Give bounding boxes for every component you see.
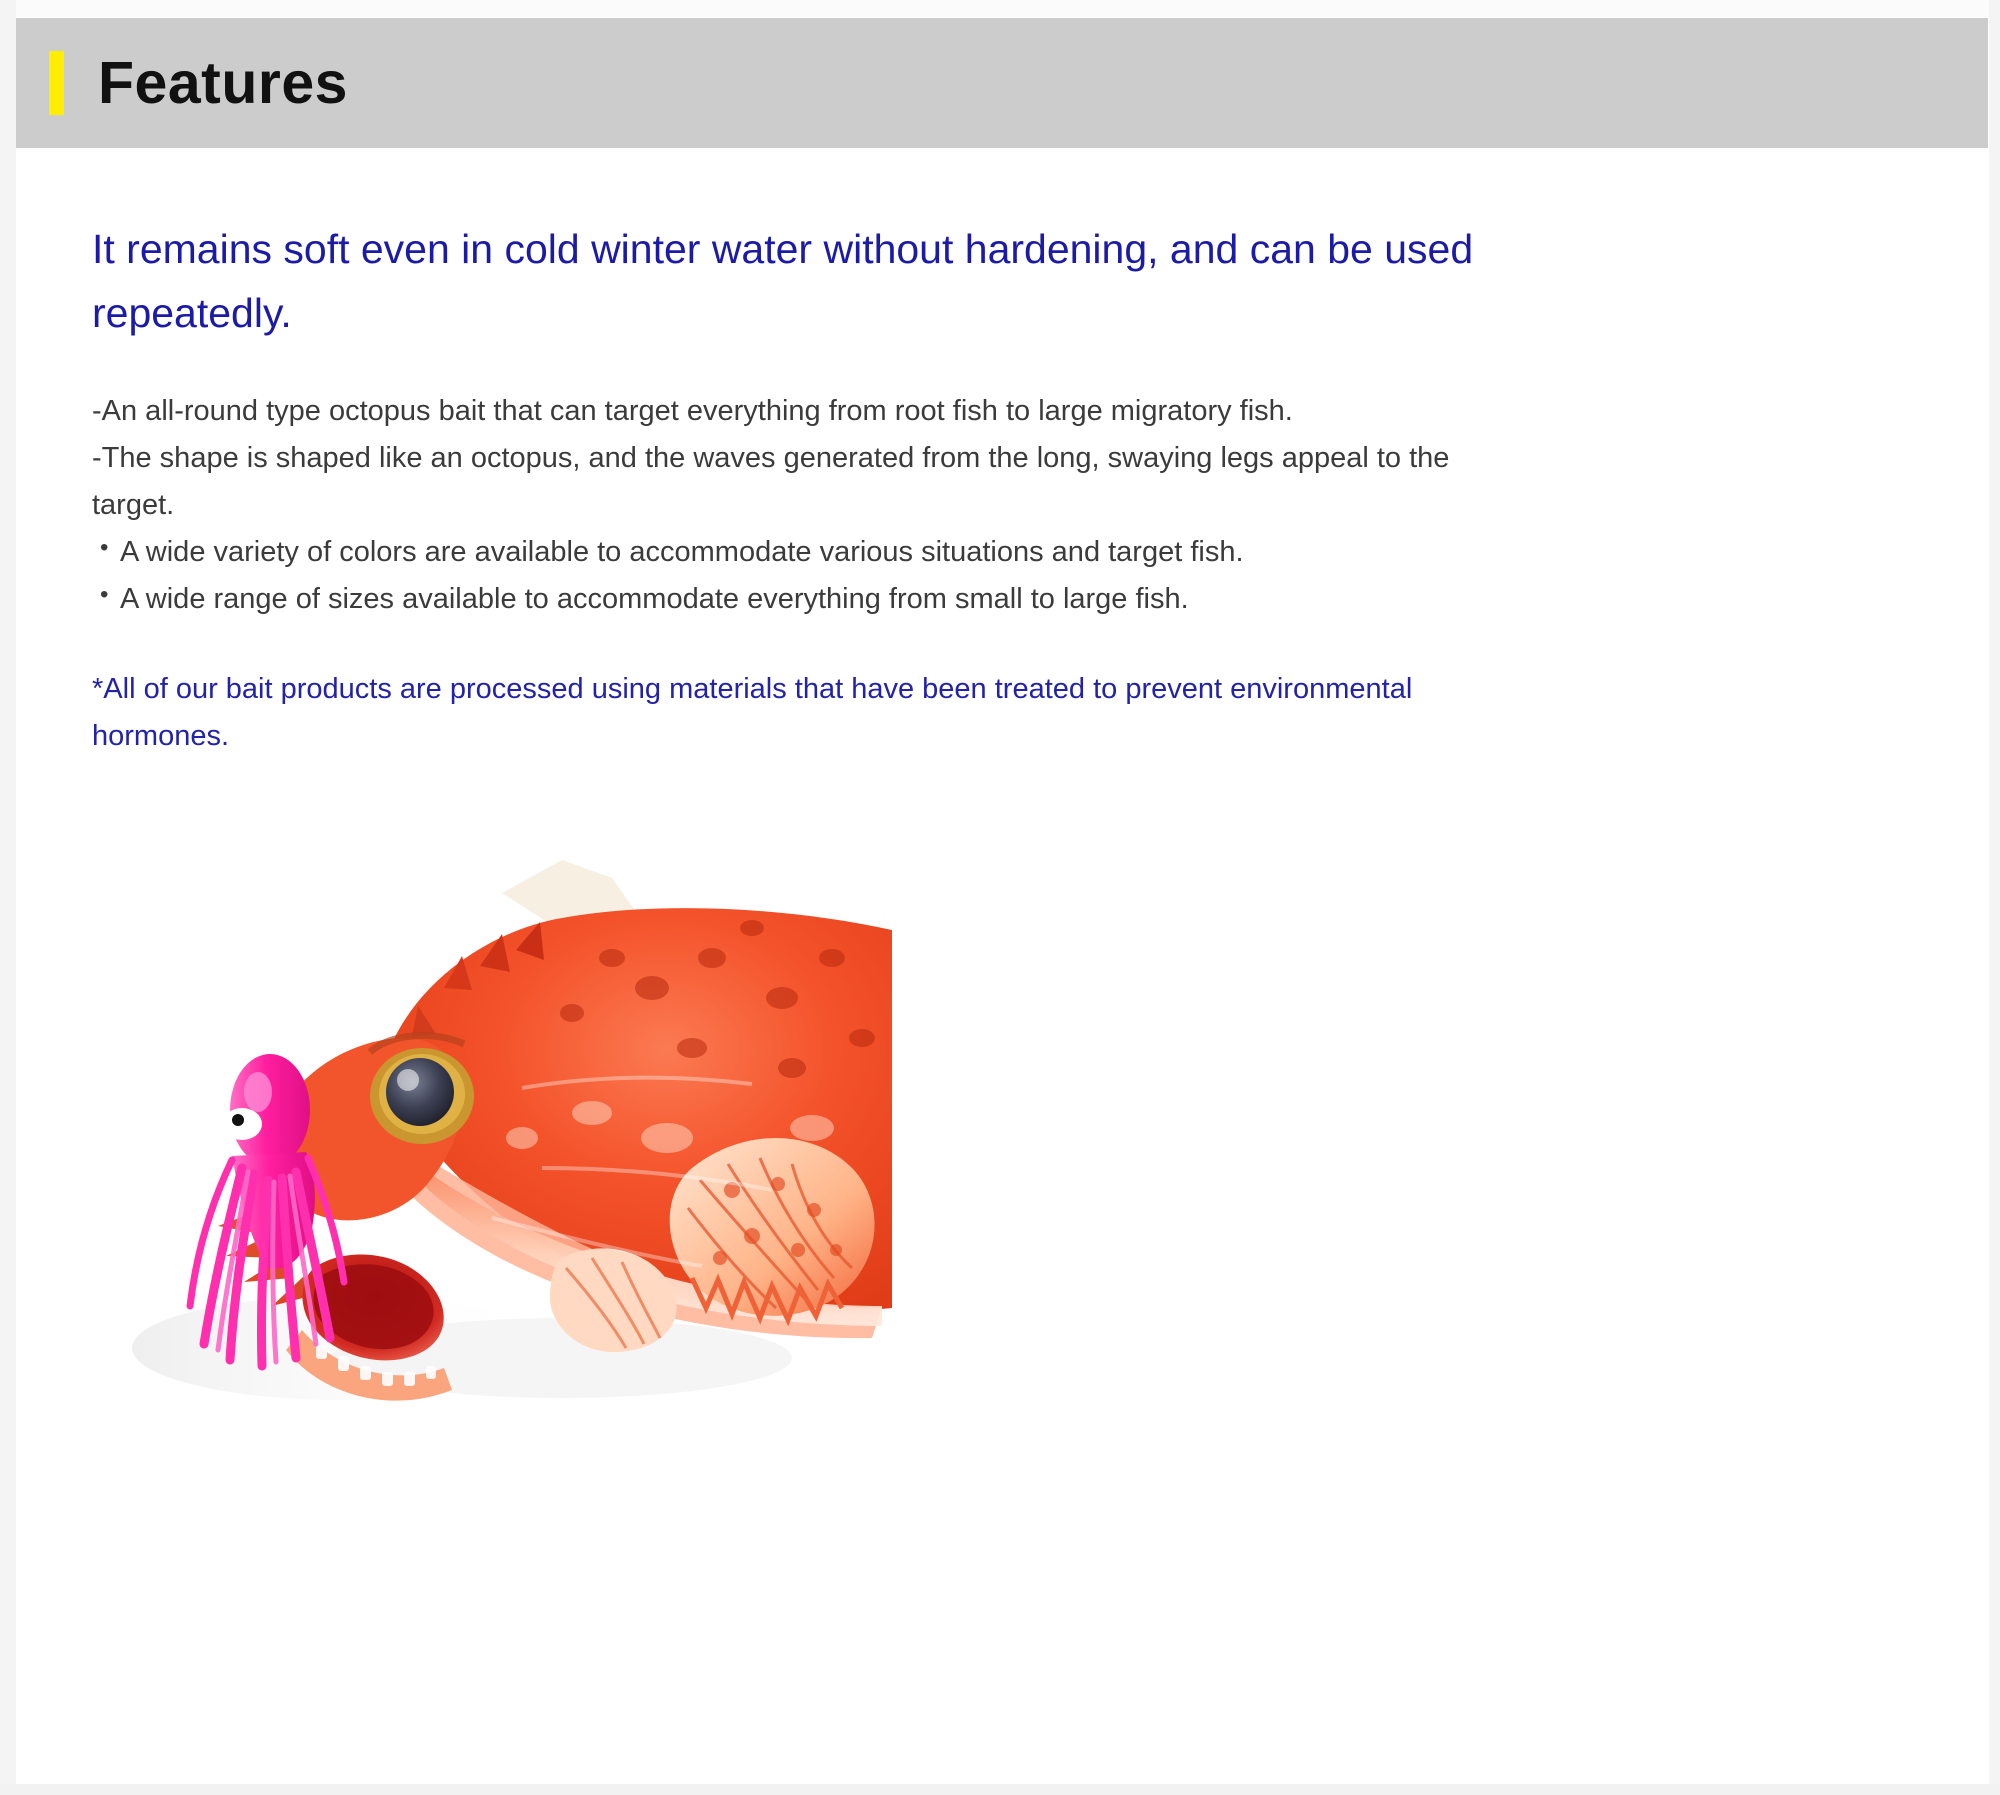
features-page: Features It remains soft even in cold wi… (0, 0, 2000, 1795)
feature-line-2: -The shape is shaped like an octopus, an… (92, 435, 1492, 529)
page-frame-right (1989, 0, 2000, 1795)
environmental-note: *All of our bait products are processed … (92, 666, 1492, 760)
list-item: A wide range of sizes available to accom… (92, 576, 1492, 623)
content-area: It remains soft even in cold winter wate… (16, 148, 1988, 1784)
page-title: Features (98, 54, 348, 113)
lead-paragraph: It remains soft even in cold winter wate… (92, 218, 1492, 346)
page-frame-left (0, 0, 16, 1795)
header-accent-bar (49, 51, 64, 115)
section-header: Features (16, 18, 1988, 148)
feature-bullet-list: A wide variety of colors are available t… (92, 529, 1492, 623)
list-item: A wide variety of colors are available t… (92, 529, 1492, 576)
fish-with-lure-illustration (92, 838, 892, 1438)
page-frame-top (0, 0, 2000, 17)
feature-line-1: -An all-round type octopus bait that can… (92, 388, 1492, 435)
page-frame-bottom (0, 1784, 2000, 1795)
feature-description: -An all-round type octopus bait that can… (92, 388, 1492, 623)
product-photo (92, 838, 892, 1438)
